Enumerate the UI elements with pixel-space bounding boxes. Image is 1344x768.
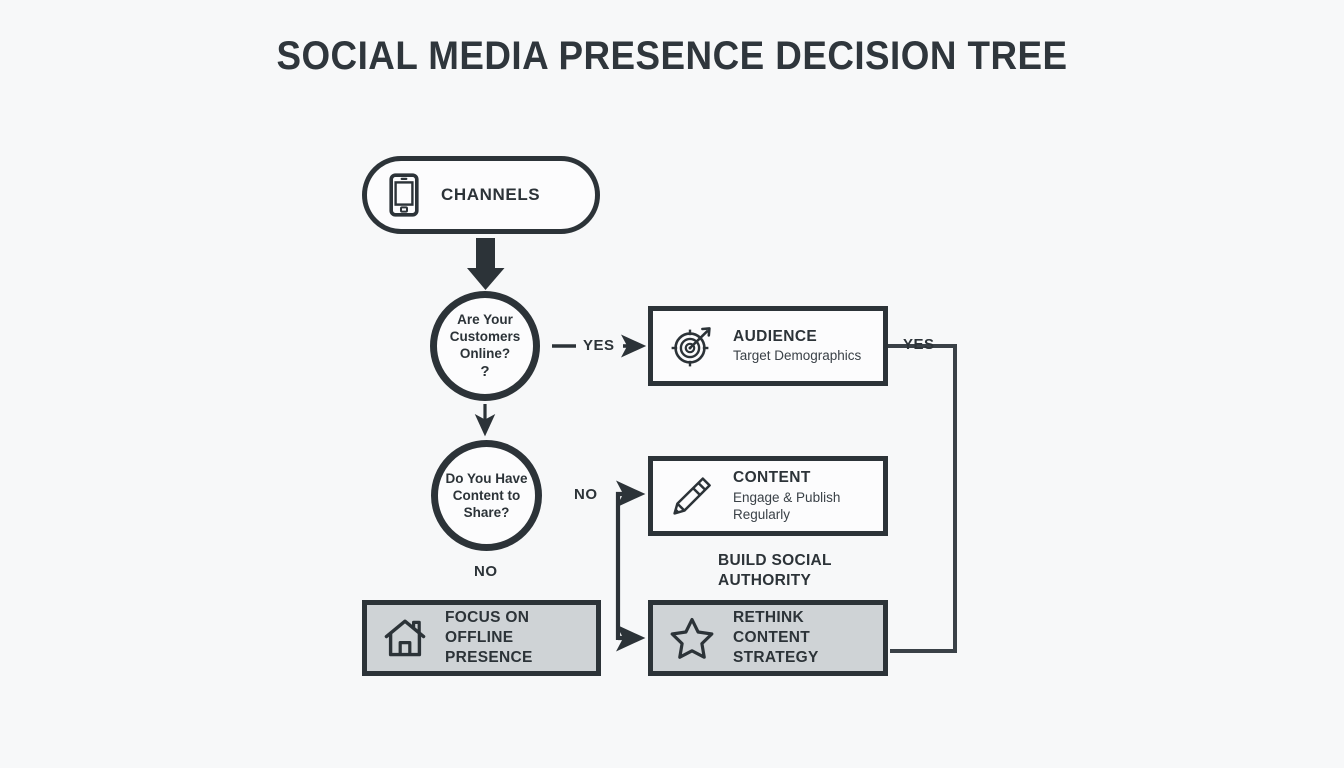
result-line-2: STRATEGY — [733, 649, 819, 666]
start-node-channels[interactable]: CHANNELS — [362, 156, 600, 234]
connector-yes-right-elbow — [888, 346, 955, 651]
target-bullseye-icon — [669, 323, 715, 369]
star-icon — [669, 616, 715, 660]
connector-channels-to-decision1 — [467, 238, 505, 290]
floating-label-line-2: AUTHORITY — [718, 572, 811, 589]
pencil-icon — [669, 473, 715, 519]
edge-label-yes-to-audience: YES — [583, 337, 615, 354]
decision-customers-online[interactable]: Are Your Customers Online? ? — [430, 291, 540, 401]
action-box-subtitle: Target Demographics — [733, 347, 861, 365]
result-line-1: RETHINK CONTENT — [733, 609, 810, 646]
result-box-offline-presence[interactable]: FOCUS ON OFFLINE PRESENCE — [362, 600, 601, 676]
edge-label-no-to-content: NO — [574, 486, 598, 503]
diagram-canvas: SOCIAL MEDIA PRESENCE DECISION TREE — [0, 0, 1344, 768]
floating-label-build-social-authority: BUILD SOCIAL AUTHORITY — [718, 551, 908, 592]
action-box-title: AUDIENCE — [733, 327, 861, 346]
action-box-subtitle: Engage & Publish Regularly — [733, 489, 883, 524]
decision-line-3: Share? — [464, 504, 510, 521]
connector-no-to-content — [618, 494, 637, 640]
start-node-label: CHANNELS — [441, 185, 540, 205]
result-box-rethink-strategy[interactable]: RETHINK CONTENT STRATEGY — [648, 600, 888, 676]
mobile-phone-icon — [389, 173, 419, 217]
result-line-1: FOCUS ON OFFLINE — [445, 609, 529, 646]
action-box-audience[interactable]: AUDIENCE Target Demographics — [648, 306, 888, 386]
home-icon — [383, 617, 427, 659]
floating-label-line-1: BUILD SOCIAL — [718, 552, 832, 569]
action-box-title: CONTENT — [733, 468, 883, 487]
result-line-2: PRESENCE — [445, 649, 533, 666]
action-box-content[interactable]: CONTENT Engage & Publish Regularly — [648, 456, 888, 536]
decision-content-to-share[interactable]: Do You Have Content to Share? — [431, 440, 542, 551]
decision-line-2: Content to — [453, 487, 520, 504]
decision-line-1: Do You Have — [445, 470, 527, 487]
decision-line-1: Are Your — [457, 311, 513, 328]
edge-label-no-to-offline: NO — [474, 563, 498, 580]
page-title: SOCIAL MEDIA PRESENCE DECISION TREE — [54, 34, 1290, 79]
decision-line-2: Customers — [450, 328, 521, 345]
result-box-label: FOCUS ON OFFLINE PRESENCE — [445, 608, 596, 668]
decision-line-3: Online? — [460, 345, 510, 362]
result-box-label: RETHINK CONTENT STRATEGY — [733, 608, 883, 668]
edge-label-yes-right-branch: YES — [903, 336, 935, 353]
decision-question-mark: ? — [480, 362, 489, 381]
